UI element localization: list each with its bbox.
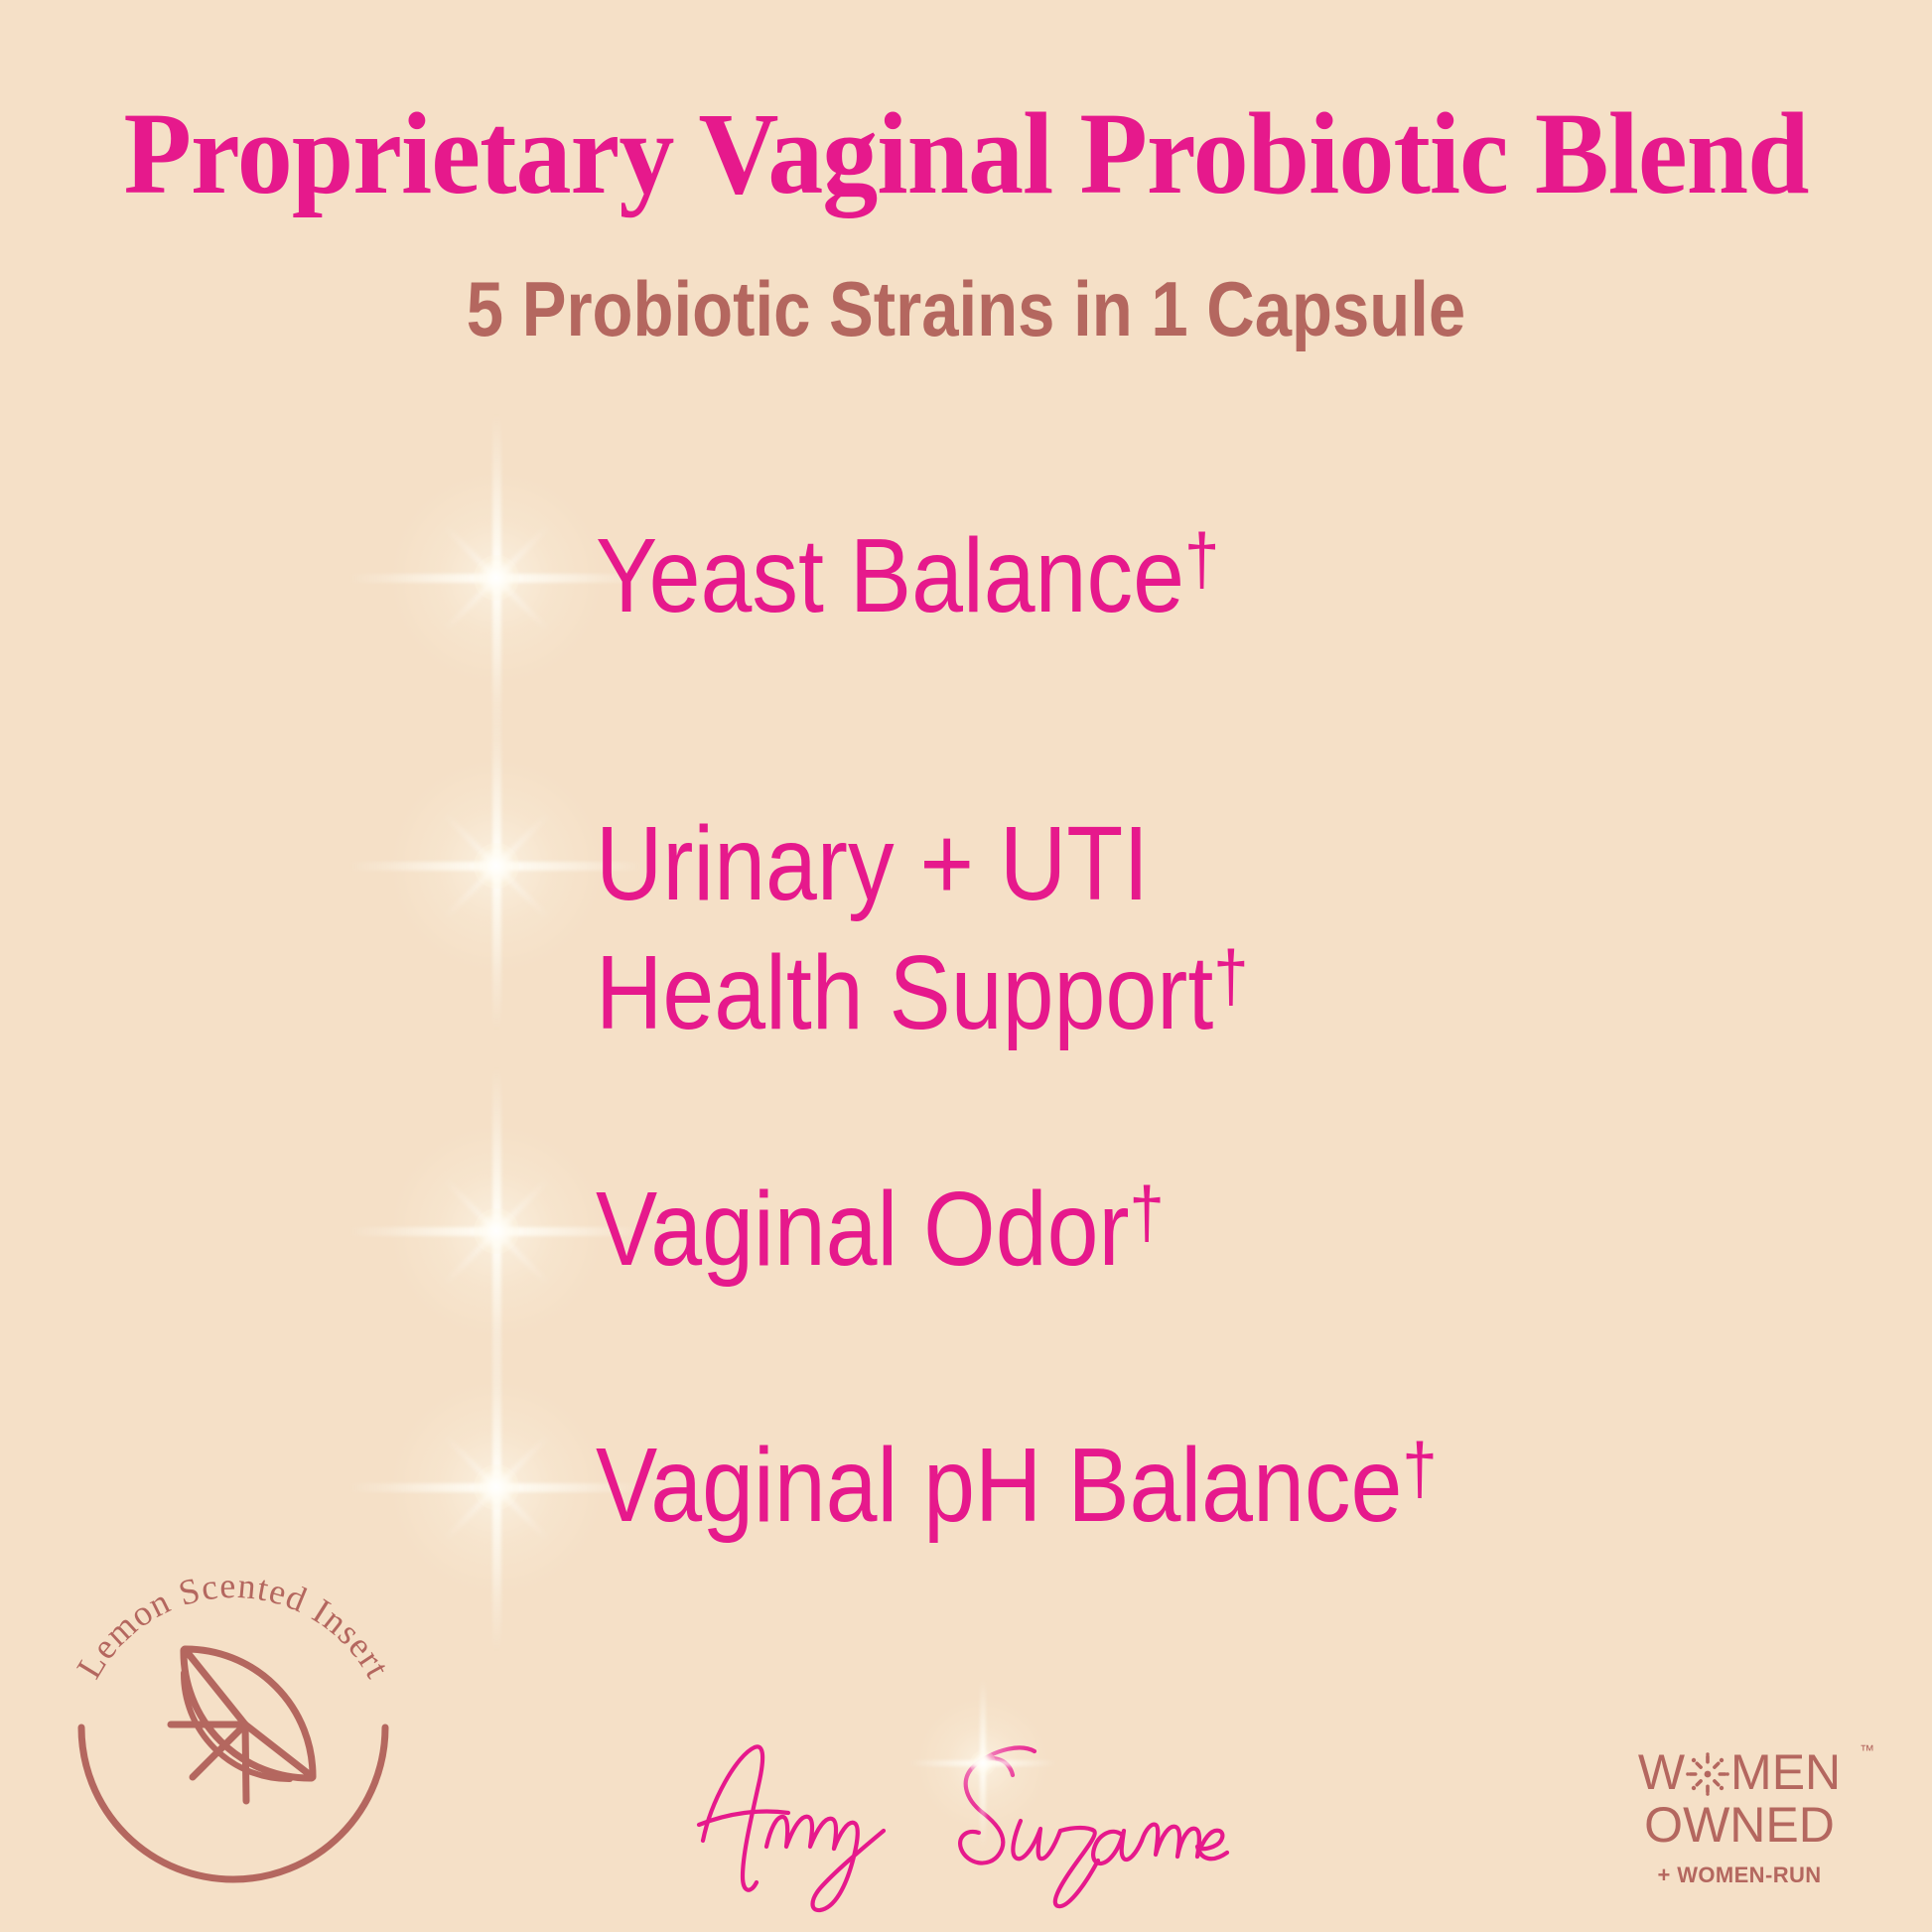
benefit-label-line-1: Urinary + UTI [596,802,1149,926]
badge-curved-text: Lemon Scented Insert [69,1566,398,1685]
dagger-symbol: † [1402,1430,1437,1509]
dagger-symbol: † [1130,1173,1165,1253]
benefits-list: Yeast Balance† Urinary + UTI Health Supp… [0,486,1932,1509]
signature-amy-suzanne: Amy Suzanne [685,1729,1241,1918]
dagger-symbol: † [1184,520,1219,600]
lemon-scented-insert-badge: Lemon Scented Insert [52,1541,415,1904]
women-owned-men: MEN [1730,1747,1841,1797]
trademark-symbol: ™ [1860,1743,1874,1758]
benefit-label-text: Health Support [596,934,1213,1051]
women-owned-line-2: OWNED [1620,1799,1859,1852]
benefit-label: Vaginal pH Balance† [596,1424,1438,1548]
women-owned-line-1: W [1620,1747,1859,1797]
benefit-label-text: Urinary + UTI [596,805,1149,922]
women-owned-w: W [1638,1747,1685,1797]
benefit-label: Vaginal Odor† [596,1168,1165,1292]
benefit-label: Yeast Balance† [596,514,1219,638]
dagger-symbol: † [1213,937,1248,1017]
women-owned-logo: W [1620,1747,1859,1889]
benefit-label-text: Vaginal Odor [596,1171,1130,1288]
benefit-label-text: Vaginal pH Balance [596,1427,1402,1544]
promo-graphic: Proprietary Vaginal Probiotic Blend 5 Pr… [0,0,1932,1932]
lemon-wedge-icon [171,1649,313,1801]
page-title: Proprietary Vaginal Probiotic Blend [49,95,1884,212]
women-owned-line-3: + WOMEN-RUN [1620,1863,1859,1888]
dot-burst-icon [1686,1752,1729,1796]
benefit-label-line-2: Health Support† [596,931,1249,1055]
benefit-label-text: Yeast Balance [596,517,1184,634]
signature-strokes [699,1746,1227,1910]
page-subtitle: 5 Probiotic Strains in 1 Capsule [135,270,1797,347]
